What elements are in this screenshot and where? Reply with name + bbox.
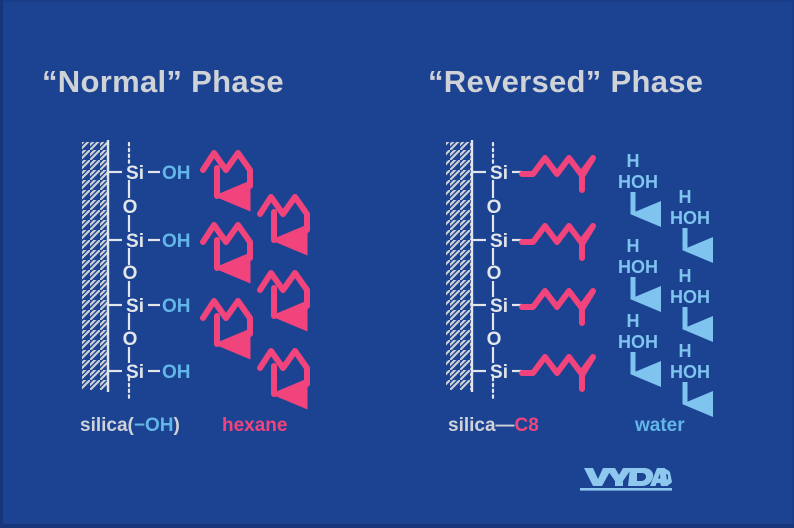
water-h-label: H [679,187,692,207]
si-atom-label: Si [126,362,144,383]
hexane-molecules [203,153,307,394]
label-hexane: hexane [222,415,287,437]
right-silica-wall [446,140,472,392]
water-hoh-label: HOH [670,287,710,307]
si-atom-label: Si [490,163,508,184]
hexane-molecule [260,273,307,316]
si-atom-label: Si [126,296,144,317]
o-atom-label: O [487,197,502,218]
c8-chain [522,158,593,190]
si-atom-label: Si [126,163,144,184]
water-molecule: H HOH [670,187,710,250]
o-atom-label: O [487,329,502,350]
si-atom-label: Si [490,231,508,252]
vydac-logo-underline [580,488,672,491]
water-molecule: H HOH [670,341,710,404]
o-atom-label: O [487,263,502,284]
phase-diagram: Si Si Si Si O O O OH OH OH OH [0,0,794,528]
o-atom-label: O [123,263,138,284]
label-silica-oh-part2: −OH [134,415,174,436]
c8-chain [522,291,593,323]
hexane-molecule [203,153,250,196]
oh-group-label: OH [162,163,191,184]
label-water: water [635,415,685,437]
oh-group-label: OH [162,296,191,317]
hexane-molecule [260,351,307,394]
left-silica-wall [82,140,108,392]
water-molecule: H HOH [618,151,658,214]
oh-group-label: OH [162,362,191,383]
si-atom-label: Si [126,231,144,252]
label-silica-c8: silica—C8 [448,415,539,437]
water-h-label: H [627,151,640,171]
water-h-label: H [627,311,640,331]
hexane-molecule [260,197,307,240]
o-atom-label: O [123,329,138,350]
c8-chain [522,226,593,258]
water-hoh-label: HOH [618,257,658,277]
label-silica-c8-part1: silica— [448,415,515,436]
left-oh-groups: OH OH OH OH [162,163,191,383]
label-silica-oh-part3: ) [173,415,179,436]
c8-chain [522,357,593,389]
water-molecule: H HOH [618,236,658,299]
water-hoh-label: HOH [618,332,658,352]
water-h-label: H [627,236,640,256]
c8-chains [522,158,593,389]
vydac-logo [578,464,674,494]
slide-canvas: “Normal” Phase “Reversed” Phase [0,0,794,528]
label-silica-c8-part2: C8 [515,415,539,436]
water-molecules-column-a: H HOH H HOH H HOH [618,151,658,374]
water-hoh-label: HOH [618,172,658,192]
water-h-label: H [679,266,692,286]
water-hoh-label: HOH [670,362,710,382]
oh-group-label: OH [162,231,191,252]
si-atom-label: Si [490,362,508,383]
water-molecule: H HOH [670,266,710,329]
o-atom-label: O [123,197,138,218]
label-silica-oh-part1: silica( [80,415,134,436]
water-hoh-label: HOH [670,208,710,228]
hexane-molecule [203,225,250,268]
water-molecules-column-b: H HOH H HOH H HOH [670,187,710,404]
water-h-label: H [679,341,692,361]
hexane-molecule [203,301,250,344]
water-molecule: H HOH [618,311,658,374]
si-atom-label: Si [490,296,508,317]
label-silica-oh: silica(−OH) [80,415,180,437]
